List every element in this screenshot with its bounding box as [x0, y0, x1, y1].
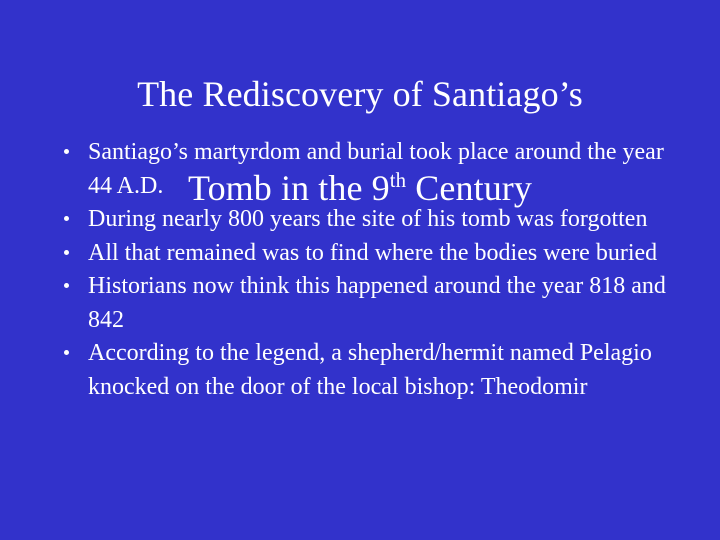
list-item: Santiago’s martyrdom and burial took pla… [58, 136, 670, 203]
list-item: According to the legend, a shepherd/herm… [58, 337, 670, 404]
bullet-dot-icon [64, 350, 69, 355]
list-item-text: According to the legend, a shepherd/herm… [88, 337, 670, 404]
bullet-dot-icon [64, 216, 69, 221]
list-item: Historians now think this happened aroun… [58, 270, 670, 337]
list-item-text: All that remained was to find where the … [88, 237, 670, 271]
bullet-dot-icon [64, 283, 69, 288]
bullet-dot-icon [64, 250, 69, 255]
list-item-text: Santiago’s martyrdom and burial took pla… [88, 136, 670, 203]
presentation-slide: The Rediscovery of Santiago’s Tomb in th… [0, 0, 720, 540]
slide-title-line-1: The Rediscovery of Santiago’s [137, 74, 583, 114]
slide-body-bullet-list: Santiago’s martyrdom and burial took pla… [58, 136, 670, 404]
list-item: All that remained was to find where the … [58, 237, 670, 271]
list-item: During nearly 800 years the site of his … [58, 203, 670, 237]
list-item-text: Historians now think this happened aroun… [88, 270, 670, 337]
bullet-dot-icon [64, 149, 69, 154]
list-item-text: During nearly 800 years the site of his … [88, 203, 670, 237]
